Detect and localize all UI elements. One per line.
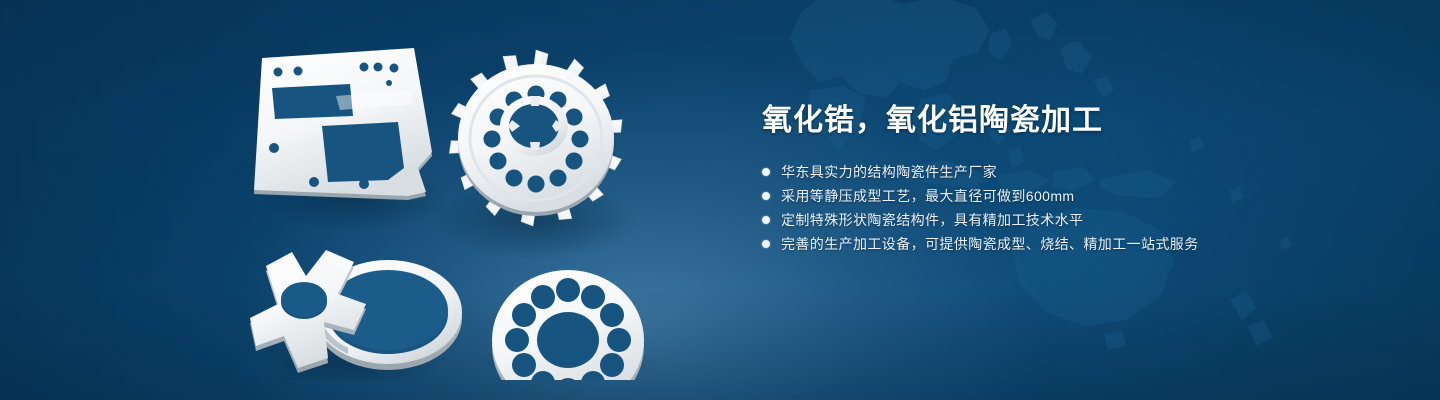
feature-item-3: 定制特殊形状陶瓷结构件，具有精加工技术水平 <box>762 212 1362 229</box>
bullet-dot-icon <box>762 192 770 200</box>
feature-item-2: 采用等静压成型工艺，最大直径可做到600mm <box>762 188 1362 205</box>
feature-list: 华东具实力的结构陶瓷件生产厂家 采用等静压成型工艺，最大直径可做到600mm 定… <box>762 164 1362 253</box>
bullet-dot-icon <box>762 216 770 224</box>
ceramic-products-image <box>236 40 716 380</box>
feature-text: 定制特殊形状陶瓷结构件，具有精加工技术水平 <box>781 212 1083 229</box>
ceramic-flat-plate <box>254 48 432 200</box>
feature-text: 完善的生产加工设备，可提供陶瓷成型、烧结、精加工一站式服务 <box>781 236 1199 253</box>
banner-copy: 氧化锆，氧化铝陶瓷加工 华东具实力的结构陶瓷件生产厂家 采用等静压成型工艺，最大… <box>762 104 1362 253</box>
bullet-dot-icon <box>762 168 770 176</box>
bullet-dot-icon <box>762 240 770 248</box>
banner-headline: 氧化锆，氧化铝陶瓷加工 <box>762 104 1362 138</box>
feature-item-1: 华东具实力的结构陶瓷件生产厂家 <box>762 164 1362 181</box>
hero-banner: 氧化锆，氧化铝陶瓷加工 华东具实力的结构陶瓷件生产厂家 采用等静压成型工艺，最大… <box>0 0 1440 400</box>
feature-item-4: 完善的生产加工设备，可提供陶瓷成型、烧结、精加工一站式服务 <box>762 236 1362 253</box>
feature-text: 采用等静压成型工艺，最大直径可做到600mm <box>781 188 1074 205</box>
ceramic-hole-disc <box>492 270 644 380</box>
feature-text: 华东具实力的结构陶瓷件生产厂家 <box>781 164 997 181</box>
